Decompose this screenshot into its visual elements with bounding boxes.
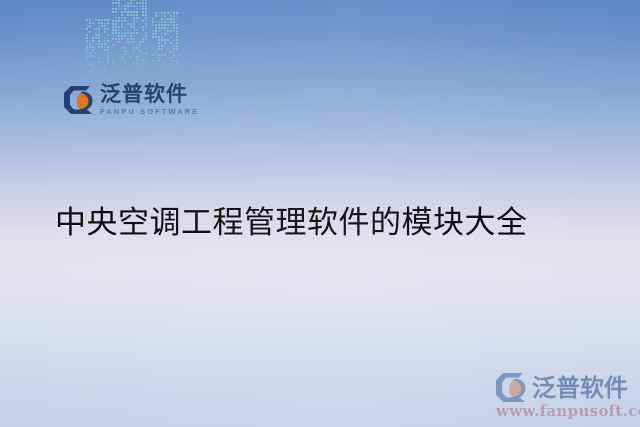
pixel-skyline-graphic [86,8,182,88]
skyline-center-tower [112,0,147,88]
header-brand-logo: 泛普软件 FANPU SOFTWARE [64,84,199,116]
site-watermark: 泛普软件 www.fanpusoft.com [496,373,634,419]
watermark-url: www.fanpusoft.com [496,404,634,419]
watermark-logo-row: 泛普软件 [496,373,634,402]
brand-name-cn: 泛普软件 [100,84,199,105]
slide-title: 中央空调工程管理软件的模块大全 [55,206,528,240]
brand-wordmark: 泛普软件 FANPU SOFTWARE [100,84,199,116]
brand-name-en: FANPU SOFTWARE [100,108,199,116]
skyline-left-tower [86,19,109,84]
fanpu-hexagon-swoosh-logo-icon [64,86,94,114]
watermark-brand-name: 泛普软件 [532,376,628,400]
fanpu-hexagon-swoosh-logo-icon [496,373,527,402]
presentation-slide: 泛普软件 FANPU SOFTWARE 中央空调工程管理软件的模块大全 泛普软件… [0,0,640,427]
skyline-right-tower [152,12,178,86]
